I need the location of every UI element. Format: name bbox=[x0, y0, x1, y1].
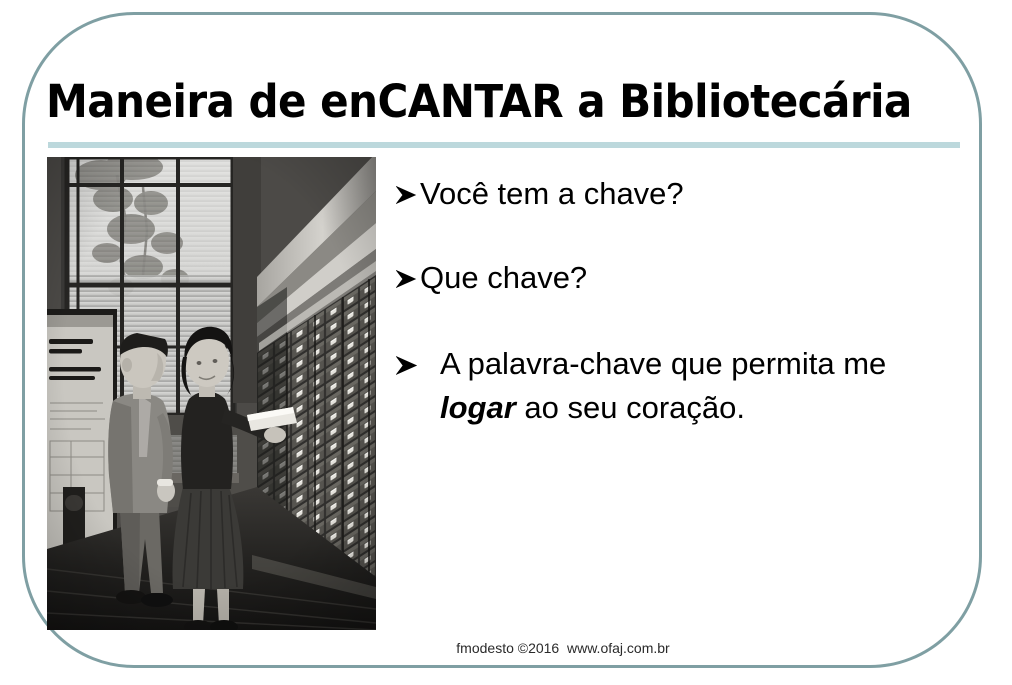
list-item-label-after: ao seu coração. bbox=[516, 390, 745, 425]
list-item: A palavra-chave que permita me logar ao … bbox=[396, 342, 956, 430]
list-item-label-emphasis: logar bbox=[440, 390, 516, 425]
arrowhead-bullet-icon bbox=[396, 257, 418, 288]
list-item-label: Você tem a chave? bbox=[420, 172, 956, 216]
title-divider bbox=[48, 142, 960, 148]
library-card-catalog-photo bbox=[47, 157, 376, 630]
list-item-label-before: A palavra-chave que permita me bbox=[440, 346, 895, 381]
footer-credit: fmodesto ©2016 www.ofaj.com.br bbox=[456, 639, 669, 657]
list-item: Você tem a chave? bbox=[396, 172, 956, 216]
slide-canvas: Maneira de enCANTAR a Bibliotecária bbox=[0, 0, 1012, 685]
arrowhead-bullet-icon bbox=[396, 173, 418, 204]
list-item-label: Que chave? bbox=[420, 256, 956, 300]
arrowhead-bullet-icon bbox=[396, 343, 440, 375]
bullet-list: Você tem a chave? Que chave? A palavra-c… bbox=[396, 172, 956, 430]
footer: fmodesto ©2016 www.ofaj.com.br bbox=[0, 639, 1012, 658]
list-item-label: A palavra-chave que permita me logar ao … bbox=[440, 342, 956, 430]
page-title-text: Maneira de enCANTAR a Bibliotecária bbox=[46, 72, 906, 132]
page-title: Maneira de enCANTAR a Bibliotecária bbox=[46, 72, 966, 140]
list-item: Que chave? bbox=[396, 256, 956, 300]
